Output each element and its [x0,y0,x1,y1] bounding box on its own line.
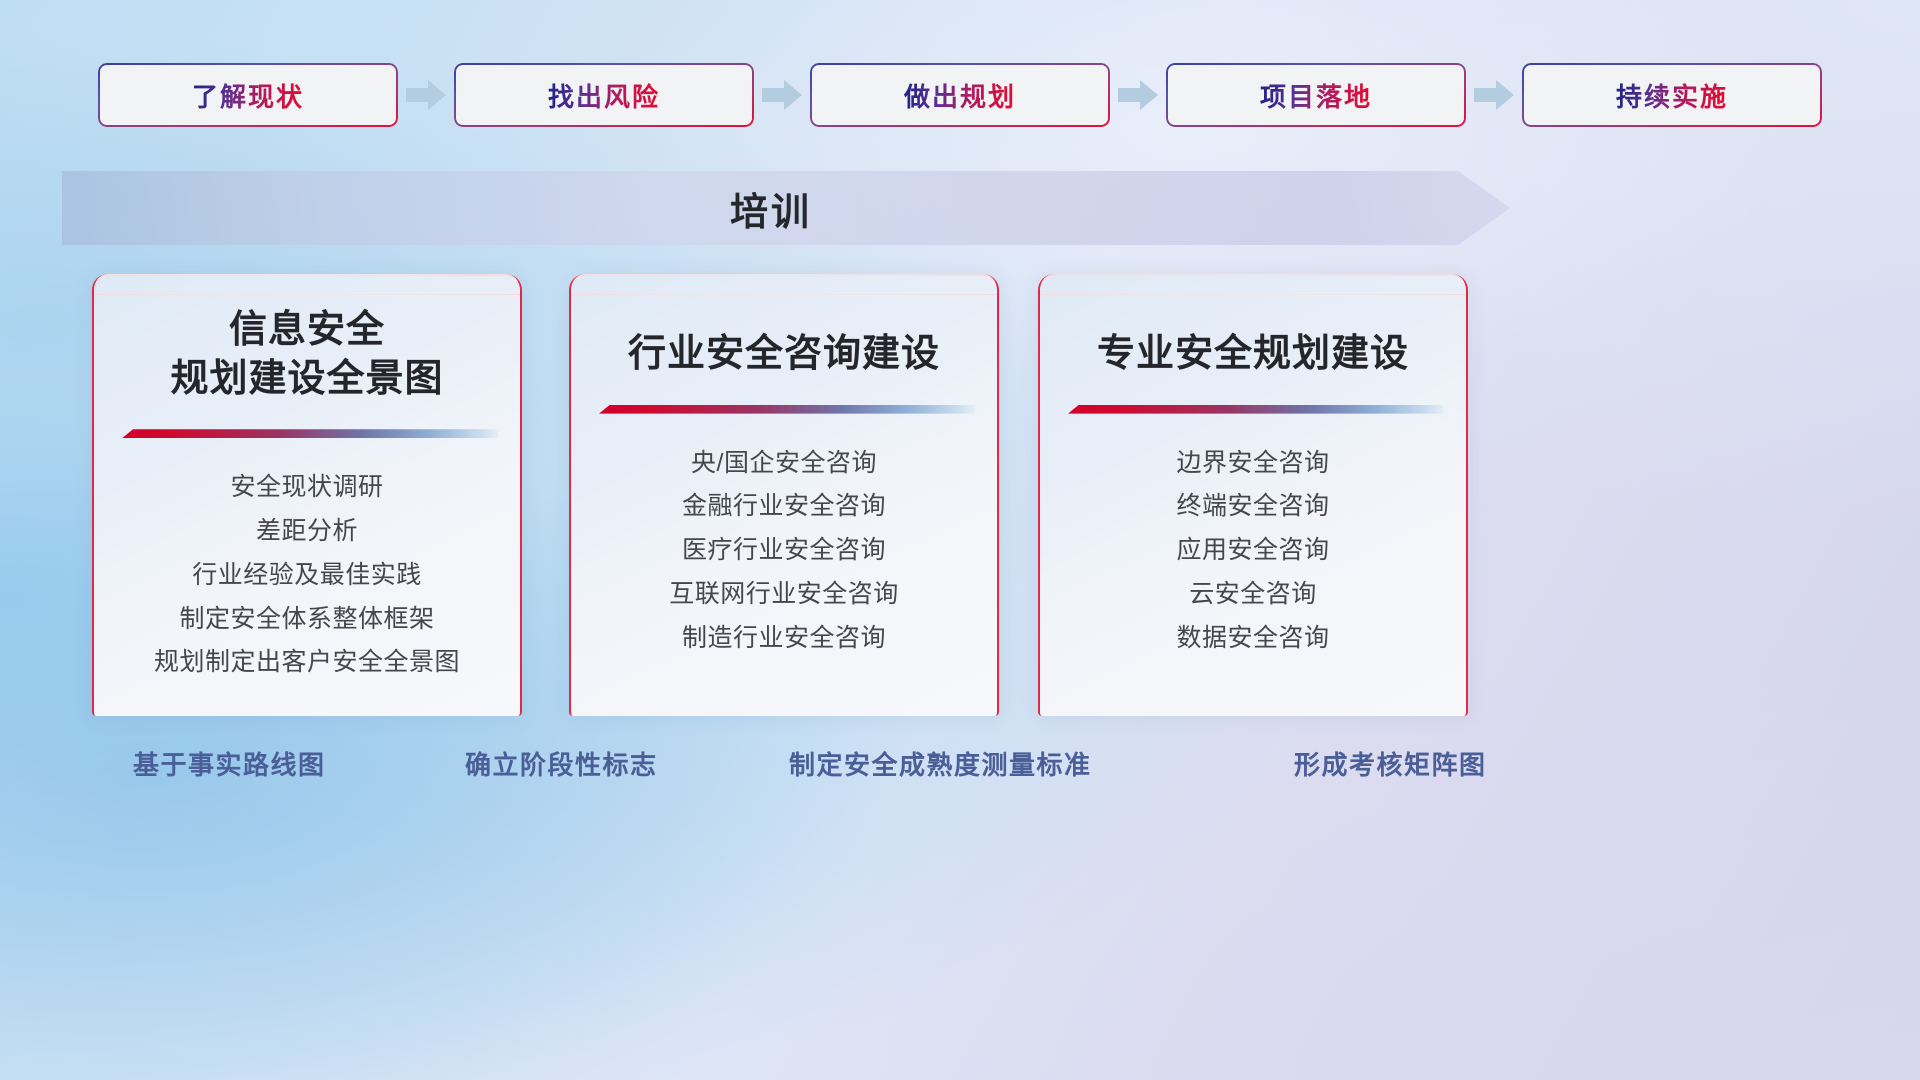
list-item: 金融行业安全咨询 [682,492,886,521]
list-item: 应用安全咨询 [1176,536,1329,565]
step-box-3[interactable]: 项目落地 [1166,63,1466,127]
card-list-0: 安全现状调研 差距分析 行业经验及最佳实践 制定安全体系整体框架 规划制定出客户… [94,473,520,677]
card-title-2: 专业安全规划建设 [1040,274,1466,379]
card-title-2-line-0: 专业安全规划建设 [1040,330,1466,379]
list-item: 数据安全咨询 [1176,624,1329,653]
list-item: 制定安全体系整体框架 [179,605,434,634]
step-arrow-0 [398,63,454,127]
card-title-1-line-0: 行业安全咨询建设 [571,330,997,379]
list-item: 行业经验及最佳实践 [192,561,422,590]
outcome-label-0: 基于事实路线图 [133,745,326,782]
card-divider-2 [1068,405,1444,414]
list-item: 制造行业安全咨询 [682,624,886,653]
card-industry-security-consulting[interactable]: 行业安全咨询建设 央/国企安全咨询 金融行业安全咨询 医疗行业安全咨询 互联网行… [569,274,999,716]
process-step-row: 了解现状 找出风险 做出规划 项目落地 持续实施 [0,63,1920,127]
card-list-2: 边界安全咨询 终端安全咨询 应用安全咨询 云安全咨询 数据安全咨询 [1040,449,1466,653]
list-item: 安全现状调研 [230,473,383,502]
card-professional-security-planning[interactable]: 专业安全规划建设 边界安全咨询 终端安全咨询 应用安全咨询 云安全咨询 数据安全… [1038,274,1468,716]
outcome-label-3: 形成考核矩阵图 [1294,745,1487,782]
card-title-0-line-1: 规划建设全景图 [94,355,520,404]
list-item: 规划制定出客户安全全景图 [154,648,460,677]
outcome-label-row: 基于事实路线图 确立阶段性标志 制定安全成熟度测量标准 形成考核矩阵图 [0,745,1920,805]
step-arrow-3 [1466,63,1522,127]
card-title-1: 行业安全咨询建设 [571,274,997,379]
banner-title: 培训 [62,171,1510,245]
card-information-security-blueprint[interactable]: 信息安全 规划建设全景图 安全现状调研 差距分析 行业经验及最佳实践 制定安全体… [92,274,522,716]
step-box-2[interactable]: 做出规划 [810,63,1110,127]
list-item: 差距分析 [256,517,358,546]
list-item: 云安全咨询 [1189,580,1317,609]
step-label-0: 了解现状 [192,77,304,114]
card-divider-1 [599,405,975,414]
card-title-0-line-0: 信息安全 [94,306,520,355]
list-item: 终端安全咨询 [1176,492,1329,521]
card-row: 信息安全 规划建设全景图 安全现状调研 差距分析 行业经验及最佳实践 制定安全体… [0,274,1920,716]
card-list-1: 央/国企安全咨询 金融行业安全咨询 医疗行业安全咨询 互联网行业安全咨询 制造行… [571,449,997,653]
list-item: 医疗行业安全咨询 [682,536,886,565]
training-banner: 培训 [62,171,1510,245]
step-arrow-1 [754,63,810,127]
outcome-label-1: 确立阶段性标志 [465,745,658,782]
outcome-label-2: 制定安全成熟度测量标准 [789,745,1092,782]
step-box-1[interactable]: 找出风险 [454,63,754,127]
card-divider-wrap-2 [1040,405,1466,421]
step-label-4: 持续实施 [1616,77,1728,114]
step-label-2: 做出规划 [904,77,1016,114]
step-box-4[interactable]: 持续实施 [1522,63,1822,127]
card-divider-wrap-1 [571,405,997,421]
card-divider-0 [122,429,498,438]
card-title-0: 信息安全 规划建设全景图 [94,274,520,403]
list-item: 央/国企安全咨询 [691,449,877,478]
step-label-1: 找出风险 [548,77,660,114]
list-item: 边界安全咨询 [1176,449,1329,478]
step-label-3: 项目落地 [1260,77,1372,114]
step-arrow-2 [1110,63,1166,127]
card-divider-wrap-0 [94,429,520,445]
step-box-0[interactable]: 了解现状 [98,63,398,127]
list-item: 互联网行业安全咨询 [669,580,899,609]
